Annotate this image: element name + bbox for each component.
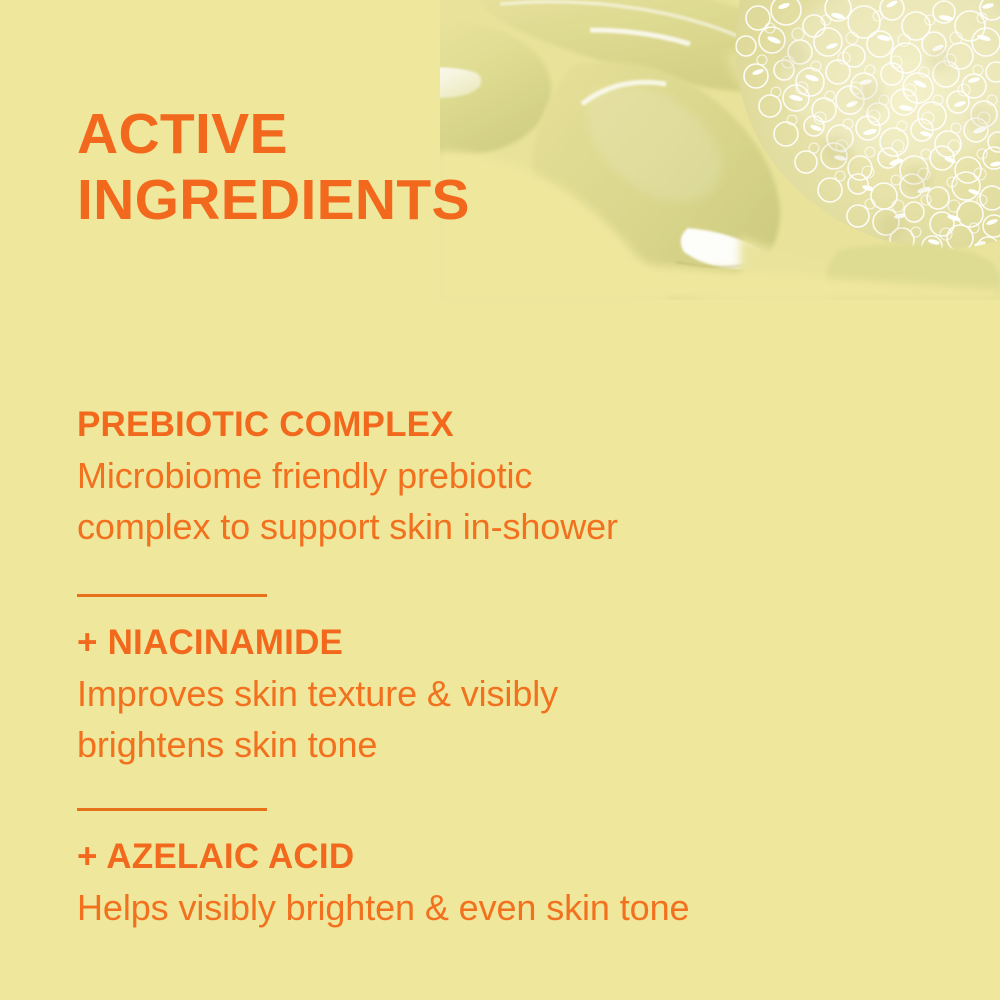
ingredient-list: PREBIOTIC COMPLEX Microbiome friendly pr… (77, 405, 937, 933)
ingredient-description-line: Improves skin texture & visibly (77, 668, 937, 719)
ingredient-name: + AZELAIC ACID (77, 837, 937, 877)
page-title-line-1: ACTIVE (77, 101, 717, 167)
ingredient-item-niacinamide: + NIACINAMIDE Improves skin texture & vi… (77, 594, 937, 770)
ingredient-description-line: Microbiome friendly prebiotic (77, 450, 937, 501)
ingredient-item-azelaic-acid: + AZELAIC ACID Helps visibly brighten & … (77, 808, 937, 933)
page-title-line-2: INGREDIENTS (77, 167, 717, 233)
ingredient-description-line: complex to support skin in-shower (77, 501, 937, 552)
spacer (77, 552, 937, 594)
section-divider (77, 594, 267, 597)
section-divider (77, 808, 267, 811)
ingredient-description: Improves skin texture & visibly brighten… (77, 668, 937, 770)
product-ingredients-graphic: ACTIVE INGREDIENTS PREBIOTIC COMPLEX Mic… (0, 0, 1000, 1000)
ingredient-name: PREBIOTIC COMPLEX (77, 405, 937, 445)
ingredient-description-line: brightens skin tone (77, 719, 937, 770)
ingredient-description: Microbiome friendly prebiotic complex to… (77, 450, 937, 552)
ingredient-description: Helps visibly brighten & even skin tone (77, 882, 937, 933)
page-title: ACTIVE INGREDIENTS (77, 101, 717, 233)
ingredient-name: + NIACINAMIDE (77, 623, 937, 663)
ingredient-item-prebiotic-complex: PREBIOTIC COMPLEX Microbiome friendly pr… (77, 405, 937, 552)
ingredient-description-line: Helps visibly brighten & even skin tone (77, 882, 937, 933)
spacer (77, 770, 937, 808)
